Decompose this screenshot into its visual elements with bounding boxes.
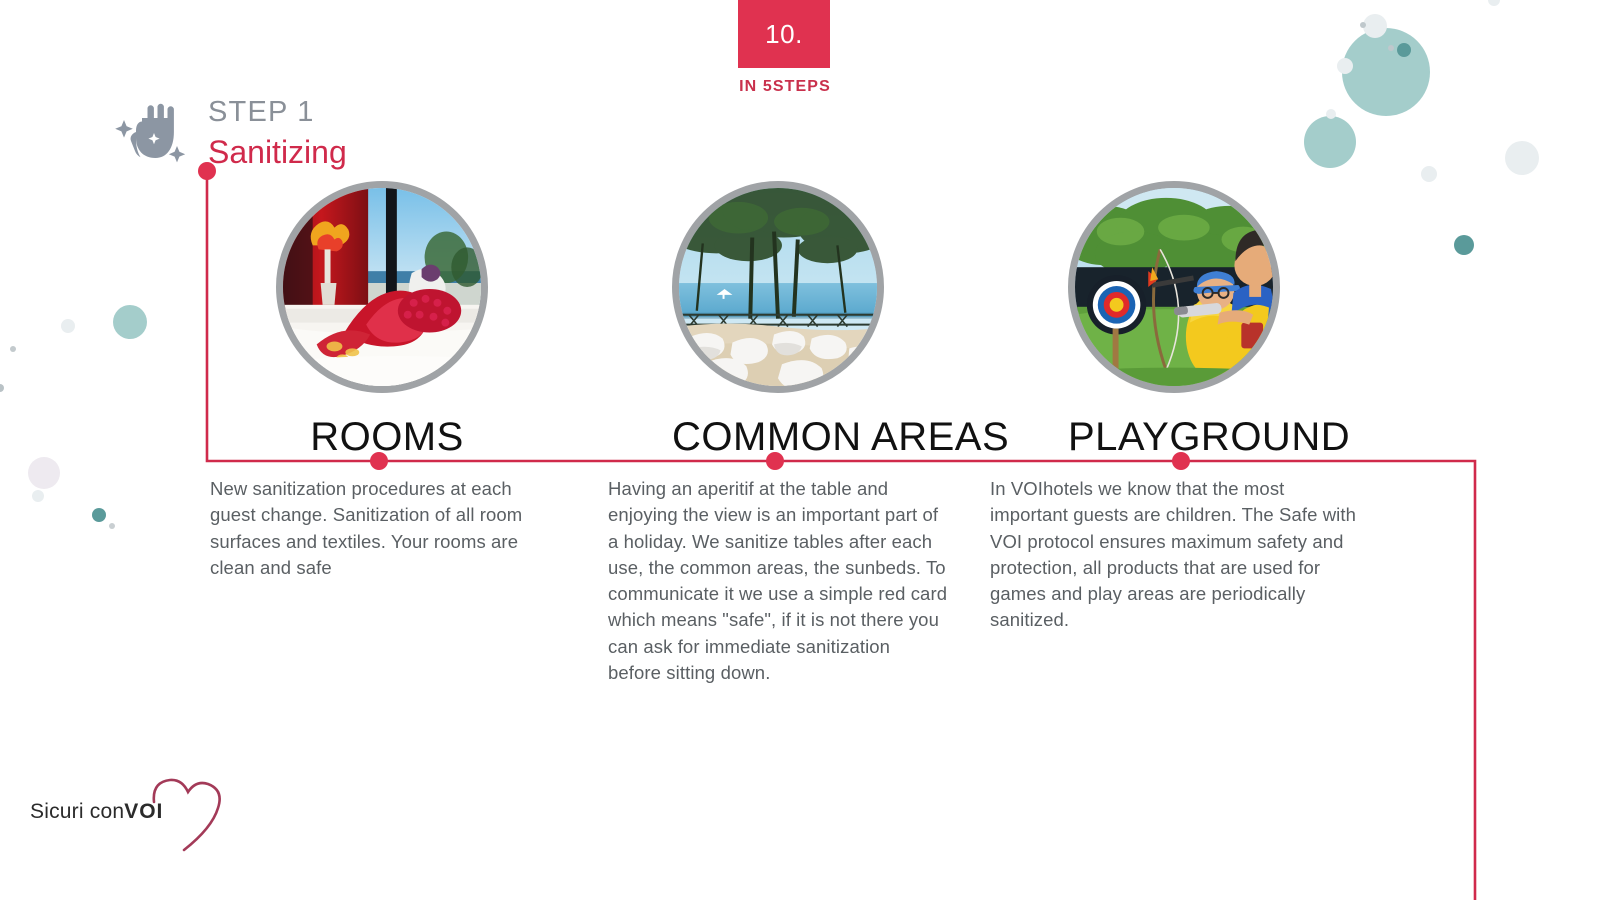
decorative-bubble xyxy=(109,523,115,529)
decorative-bubble xyxy=(61,319,75,333)
photo-rooms xyxy=(276,181,488,393)
decorative-bubble xyxy=(1337,58,1353,74)
decorative-bubble xyxy=(1388,45,1394,51)
photo-playground xyxy=(1068,181,1280,393)
column-playground: PLAYGROUND In VOIhotels we know that the… xyxy=(1068,181,1290,460)
decorative-bubble xyxy=(1363,14,1387,38)
decorative-bubble xyxy=(1397,43,1411,57)
column-rooms: ROOMS New sanitization procedures at eac… xyxy=(276,181,498,460)
brand-logo: Sicuri conVOI xyxy=(30,800,163,824)
brand-logo-text-light: Sicuri con xyxy=(30,800,124,823)
sanitizing-hand-sparkle-icon xyxy=(112,92,198,181)
heading-rooms: ROOMS xyxy=(276,415,498,460)
decorative-bubble xyxy=(1488,0,1500,6)
body-common-areas: Having an aperitif at the table and enjo… xyxy=(608,476,948,686)
decorative-bubble xyxy=(1454,235,1474,255)
decorative-bubble xyxy=(92,508,106,522)
heading-common-areas: COMMON AREAS xyxy=(672,415,894,460)
step-title: Sanitizing xyxy=(208,132,347,172)
decorative-bubble xyxy=(10,346,16,352)
decorative-bubble xyxy=(1421,166,1437,182)
body-playground: In VOIhotels we know that the most impor… xyxy=(990,476,1362,634)
decorative-bubble xyxy=(1360,22,1366,28)
page-number-badge: 10. xyxy=(738,0,830,68)
decorative-bubble xyxy=(0,384,4,392)
page-number: 10. xyxy=(765,19,803,50)
decorative-bubble xyxy=(1505,141,1539,175)
step-header: STEP 1 Sanitizing xyxy=(112,92,347,181)
page-subtitle: IN 5STEPS xyxy=(700,78,870,96)
decorative-bubble xyxy=(1304,116,1356,168)
heart-outline-icon xyxy=(138,774,222,854)
decorative-bubble xyxy=(1326,109,1336,119)
step-label: STEP 1 xyxy=(208,94,347,130)
photo-common-areas xyxy=(672,181,884,393)
decorative-bubble xyxy=(113,305,147,339)
decorative-bubble xyxy=(28,457,60,489)
decorative-bubble xyxy=(1342,28,1430,116)
column-common-areas: COMMON AREAS Having an aperitif at the t… xyxy=(672,181,894,460)
body-rooms: New sanitization procedures at each gues… xyxy=(210,476,550,581)
heading-playground: PLAYGROUND xyxy=(1068,415,1290,460)
decorative-bubble xyxy=(32,490,44,502)
